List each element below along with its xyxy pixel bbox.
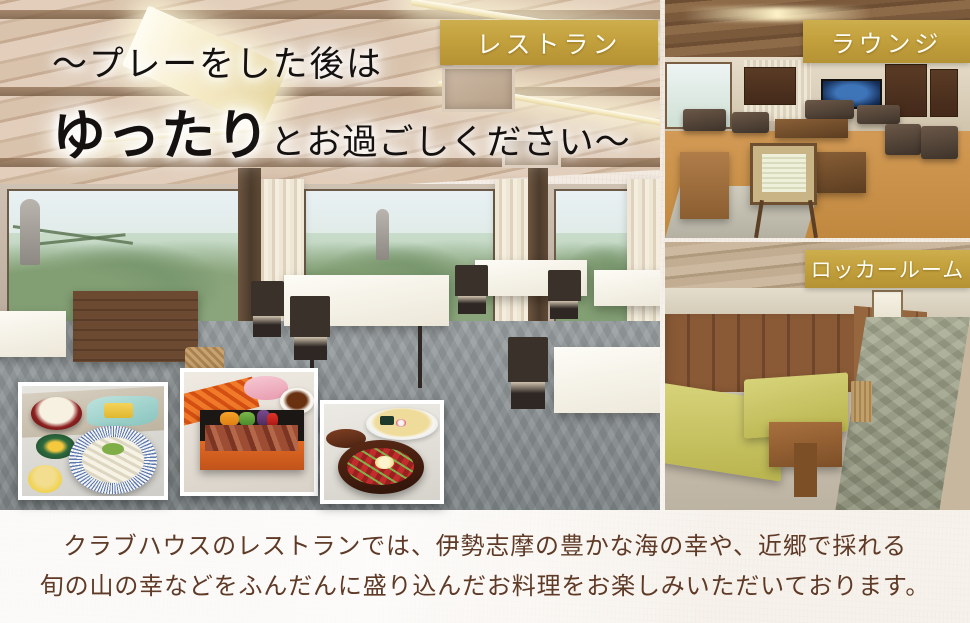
chair — [455, 265, 488, 296]
leather-sofa — [805, 100, 854, 119]
chawanmushi-bowl — [31, 397, 82, 430]
side-dish — [28, 465, 62, 493]
dining-table — [594, 270, 660, 306]
leather-sofa — [683, 109, 726, 130]
grated-yam — [375, 456, 394, 469]
easel-sign — [750, 143, 817, 205]
chair — [548, 270, 581, 301]
coffee-table — [775, 119, 848, 138]
food-image — [184, 372, 314, 492]
tamagoyaki — [104, 403, 132, 418]
curtain — [627, 179, 660, 332]
center-table — [769, 422, 842, 468]
food-photo-udon-set — [18, 382, 168, 500]
chair — [508, 337, 548, 383]
sanitizer-podium — [680, 152, 729, 219]
promo-banner: レストラン ラウンジ ロッカールーム 〜プレーをした後は ゆったり とお過ごしく… — [0, 0, 970, 623]
food-photo-tuna-donburi — [320, 400, 444, 504]
headline-emphasis: ゆったり — [52, 91, 270, 170]
headline-line-1: 〜プレーをした後は — [52, 36, 631, 87]
ceiling-beam — [0, 10, 660, 19]
patio-umbrella — [20, 199, 40, 265]
nori-seaweed — [380, 416, 394, 425]
chair — [251, 281, 284, 317]
notice-board — [744, 67, 796, 105]
food-photo-beef-bento — [180, 368, 318, 496]
waste-basket — [851, 381, 872, 421]
food-image — [22, 386, 164, 496]
headline-remainder: とお過ごしください〜 — [270, 114, 631, 165]
leather-armchair — [885, 124, 922, 155]
chair — [290, 296, 330, 337]
dining-table — [0, 311, 66, 357]
patio-umbrella — [376, 209, 389, 260]
leather-armchair — [732, 112, 769, 133]
pillar — [528, 168, 548, 336]
badge-lounge: ラウンジ — [803, 20, 970, 63]
leather-armchair — [921, 126, 958, 159]
sideboard-cabinet — [73, 291, 198, 362]
headline-line-2: ゆったり とお過ごしください〜 — [52, 91, 631, 170]
beef-slices — [205, 425, 299, 451]
headline: 〜プレーをした後は ゆったり とお過ごしください〜 — [52, 36, 631, 170]
display-cabinet — [930, 69, 957, 117]
dining-table — [554, 347, 660, 413]
caption-line-2: 旬の山の幸などをふんだんに盛り込んだお料理をお楽しみいただいております。 — [0, 566, 970, 601]
caption-line-1: クラブハウスのレストランでは、伊勢志摩の豊かな海の幸や、近郷で採れる — [0, 526, 970, 561]
badge-locker-room: ロッカールーム — [805, 250, 970, 288]
food-image — [324, 404, 440, 500]
leather-sofa — [857, 105, 900, 124]
